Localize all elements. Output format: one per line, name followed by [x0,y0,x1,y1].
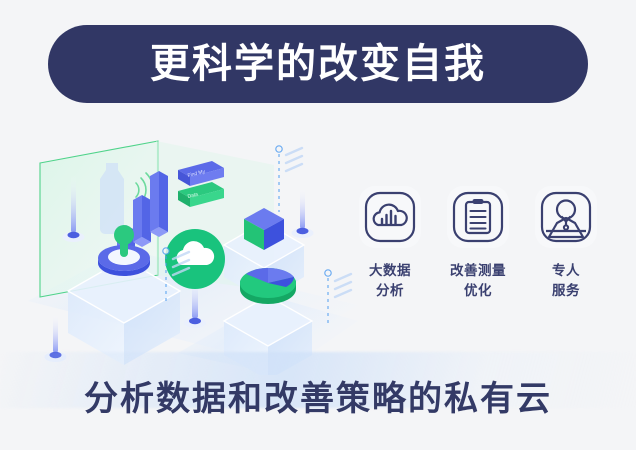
feature-label-line1: 大数据 [369,261,411,281]
feature-label-big-data: 大数据 分析 [369,261,411,300]
feature-item-service[interactable]: 专人 服务 [528,186,604,300]
poster-stage: 更科学的改变自我 [0,0,636,450]
dashed-connector-top [276,146,302,212]
feature-label-line2: 分析 [369,281,411,301]
feature-label-measurement: 改善测量 优化 [450,261,506,300]
cloud-chart-icon [359,186,421,248]
feature-label-line1: 专人 [552,261,580,281]
pin-right [292,187,314,238]
feature-label-line2: 服务 [552,281,580,301]
bottle-icon [100,163,124,234]
feature-label-line1: 改善测量 [450,261,506,281]
tagline: 分析数据和改善策略的私有云 [0,382,636,416]
feature-item-measurement[interactable]: 改善测量 优化 [440,186,516,300]
feature-label-line2: 优化 [450,281,506,301]
feature-item-big-data[interactable]: 大数据 分析 [352,186,428,300]
pie-chart [240,268,296,304]
feature-list: 大数据 分析 改善测量 [352,186,604,326]
feature-label-service: 专人 服务 [552,261,580,300]
clipboard-icon [447,186,509,248]
header-banner: 更科学的改变自我 [48,25,588,103]
support-agent-icon [535,186,597,248]
banner-title: 更科学的改变自我 [150,44,486,84]
illustration: Find My Data [28,125,358,375]
